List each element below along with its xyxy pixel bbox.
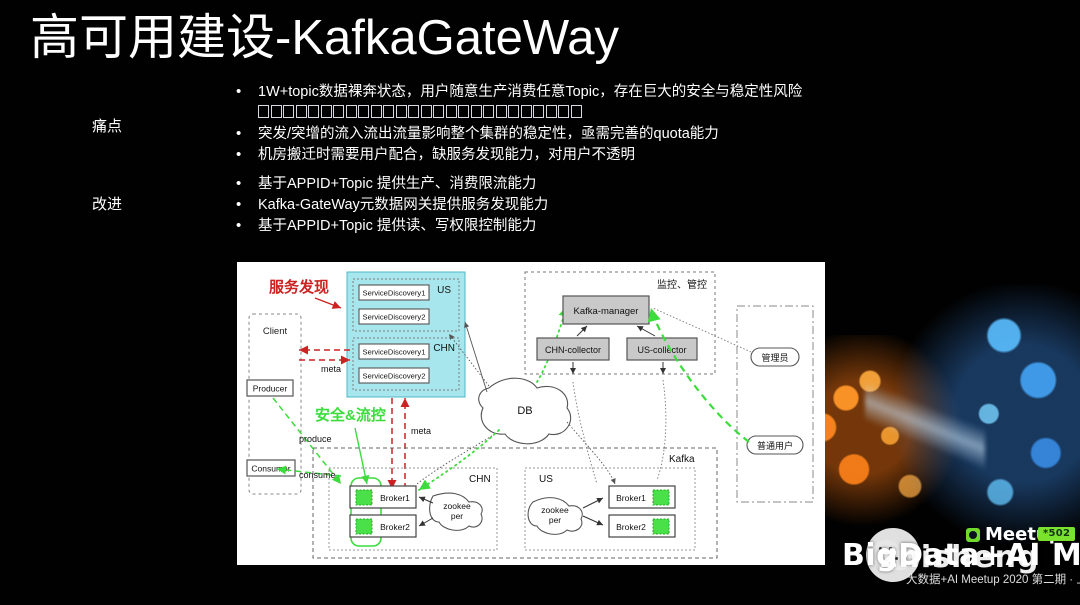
kafka-group-title: Kafka [669,454,695,465]
node-normal-user: 普通用户 [757,440,793,451]
node-servicediscovery1-chn: ServiceDiscovery1 [363,348,426,357]
kafka-cluster-chn: CHN [469,474,491,485]
node-broker2-us: Broker2 [616,522,646,532]
unrendered-glyph-run [228,103,802,124]
list-item: 基于APPID+Topic 提供生产、消费限流能力 [228,174,548,195]
kafka-cluster-us: US [539,474,553,485]
node-consumer: Consumer [251,464,290,474]
edge-label-meta-client: meta [321,364,341,374]
list-item: 基于APPID+Topic 提供读、写权限控制能力 [228,216,548,237]
footer-caption: 大数据+AI Meetup 2020 第二期 · 上海 [906,571,1080,587]
node-admin: 管理员 [761,352,788,363]
page-title: 高可用建设-KafkaGateWay [30,8,619,68]
pain-bullet-list: 1W+topic数据裸奔状态，用户随意生产消费任意Topic，存在巨大的安全与稳… [228,82,802,166]
node-zookeeper-chn: zookee [443,501,471,511]
list-item: 突发/突增的流入流出流量影响整个集群的稳定性，亟需完善的quota能力 [228,124,802,145]
node-producer: Producer [253,384,288,394]
edge-label-produce: produce [299,434,332,444]
node-kafka-manager: Kafka-manager [574,306,639,317]
blue-particle-cluster [890,285,1080,565]
node-db: DB [517,405,532,417]
node-servicediscovery1-us: ServiceDiscovery1 [363,289,426,298]
list-item: 机房搬迁时需要用户配合，缺服务发现能力，对用户不透明 [228,145,802,166]
node-chn-collector: CHN-collector [545,345,601,355]
node-broker1-us: Broker1 [616,493,646,503]
improve-bullet-list: 基于APPID+Topic 提供生产、消费限流能力 Kafka-GateWay元… [228,174,548,237]
node-servicediscovery2-us: ServiceDiscovery2 [363,313,426,322]
node-broker2-chn: Broker2 [380,522,410,532]
section-label-pain: 痛点 [92,115,122,136]
gateway-region-us: US [437,285,451,296]
edge-label-consume: consume [299,470,336,480]
monitor-group-title: 监控、管控 [657,278,707,291]
node-us-collector: US-collector [637,345,686,355]
list-item: Kafka-GateWay元数据网关提供服务发现能力 [228,195,548,216]
node-servicediscovery2-chn: ServiceDiscovery2 [363,372,426,381]
meetup-icon [966,528,980,542]
node-zookeeper-us: zookee [541,505,569,515]
gateway-region-chn: CHN [433,343,455,354]
architecture-diagram: Client Producer Consumer 服务发现 US Service… [237,262,825,565]
overlay-text-watermark: zhisheng [880,540,1040,575]
client-group-title: Client [263,326,288,337]
annotation-security-flow: 安全&流控 [315,406,386,424]
node-broker1-chn: Broker1 [380,493,410,503]
edge-label-meta-broker: meta [411,426,431,436]
svg-text:per: per [549,515,561,525]
annotation-service-discovery: 服务发现 [269,278,329,296]
section-label-improve: 改进 [92,193,122,214]
status-badge: *502 [1038,527,1075,541]
list-item: 1W+topic数据裸奔状态，用户随意生产消费任意Topic，存在巨大的安全与稳… [228,82,802,103]
svg-text:per: per [451,511,463,521]
